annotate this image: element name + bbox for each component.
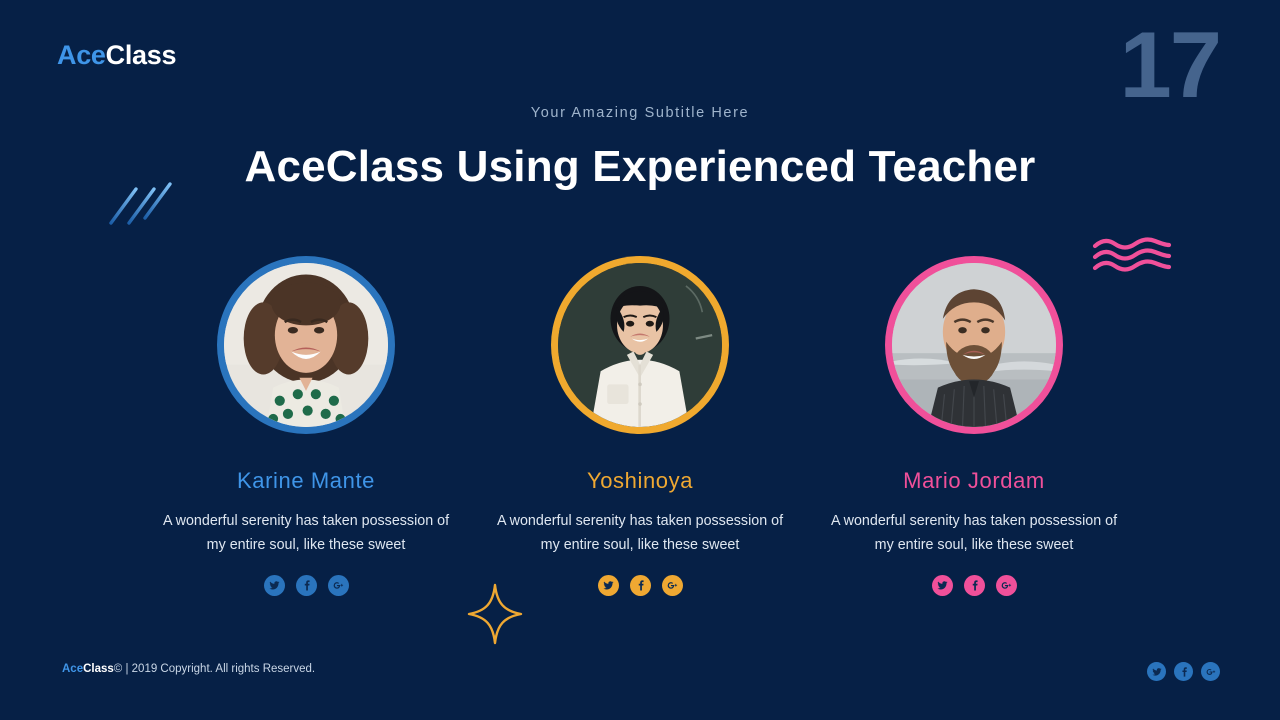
twitter-icon[interactable] [1147,662,1166,681]
avatar-ring [885,256,1063,434]
team-member-socials [264,575,349,596]
facebook-icon[interactable] [964,575,985,596]
team-member-name: Yoshinoya [587,468,693,494]
facebook-icon[interactable] [296,575,317,596]
team-member-socials [598,575,683,596]
footer-brand-class: Class [83,663,114,675]
slide-root: AceClass 17 Your Amazing Subtitle Here A… [0,0,1280,720]
portrait-yoshinoya [558,263,722,427]
brand-logo: AceClass [57,40,176,71]
google-plus-icon[interactable] [996,575,1017,596]
facebook-icon[interactable] [630,575,651,596]
brand-logo-ace: Ace [57,40,106,70]
brand-logo-class: Class [106,40,177,70]
portrait-mario-jordam [892,263,1056,427]
avatar-ring [217,256,395,434]
team-member-description: A wonderful serenity has taken possessio… [495,510,785,557]
slide-subtitle: Your Amazing Subtitle Here [0,105,1280,121]
avatar [558,263,722,427]
avatar-ring [551,256,729,434]
slide-title: AceClass Using Experienced Teacher [0,142,1280,192]
twitter-icon[interactable] [264,575,285,596]
footer-copyright-text: © | 2019 Copyright. All rights Reserved. [114,663,315,675]
facebook-icon[interactable] [1174,662,1193,681]
google-plus-icon[interactable] [328,575,349,596]
team-card-yoshinoya: Yoshinoya A wonderful serenity has taken… [473,256,807,596]
diagonal-slashes-decoration [108,182,174,231]
portrait-karine-mante [224,263,388,427]
twitter-icon[interactable] [598,575,619,596]
team-card-karine-mante: Karine Mante A wonderful serenity has ta… [139,256,473,596]
page-number: 17 [1119,18,1220,112]
google-plus-icon[interactable] [662,575,683,596]
footer-brand-ace: Ace [62,663,83,675]
twitter-icon[interactable] [932,575,953,596]
team-member-socials [932,575,1017,596]
team-member-name: Mario Jordam [903,468,1045,494]
team-card-mario-jordam: Mario Jordam A wonderful serenity has ta… [807,256,1141,596]
team-member-description: A wonderful serenity has taken possessio… [161,510,451,557]
footer-socials [1147,662,1220,681]
avatar [224,263,388,427]
team-cards-row: Karine Mante A wonderful serenity has ta… [0,256,1280,596]
avatar [892,263,1056,427]
team-member-name: Karine Mante [237,468,375,494]
team-member-description: A wonderful serenity has taken possessio… [829,510,1119,557]
google-plus-icon[interactable] [1201,662,1220,681]
footer-copyright: AceClass© | 2019 Copyright. All rights R… [62,663,315,675]
